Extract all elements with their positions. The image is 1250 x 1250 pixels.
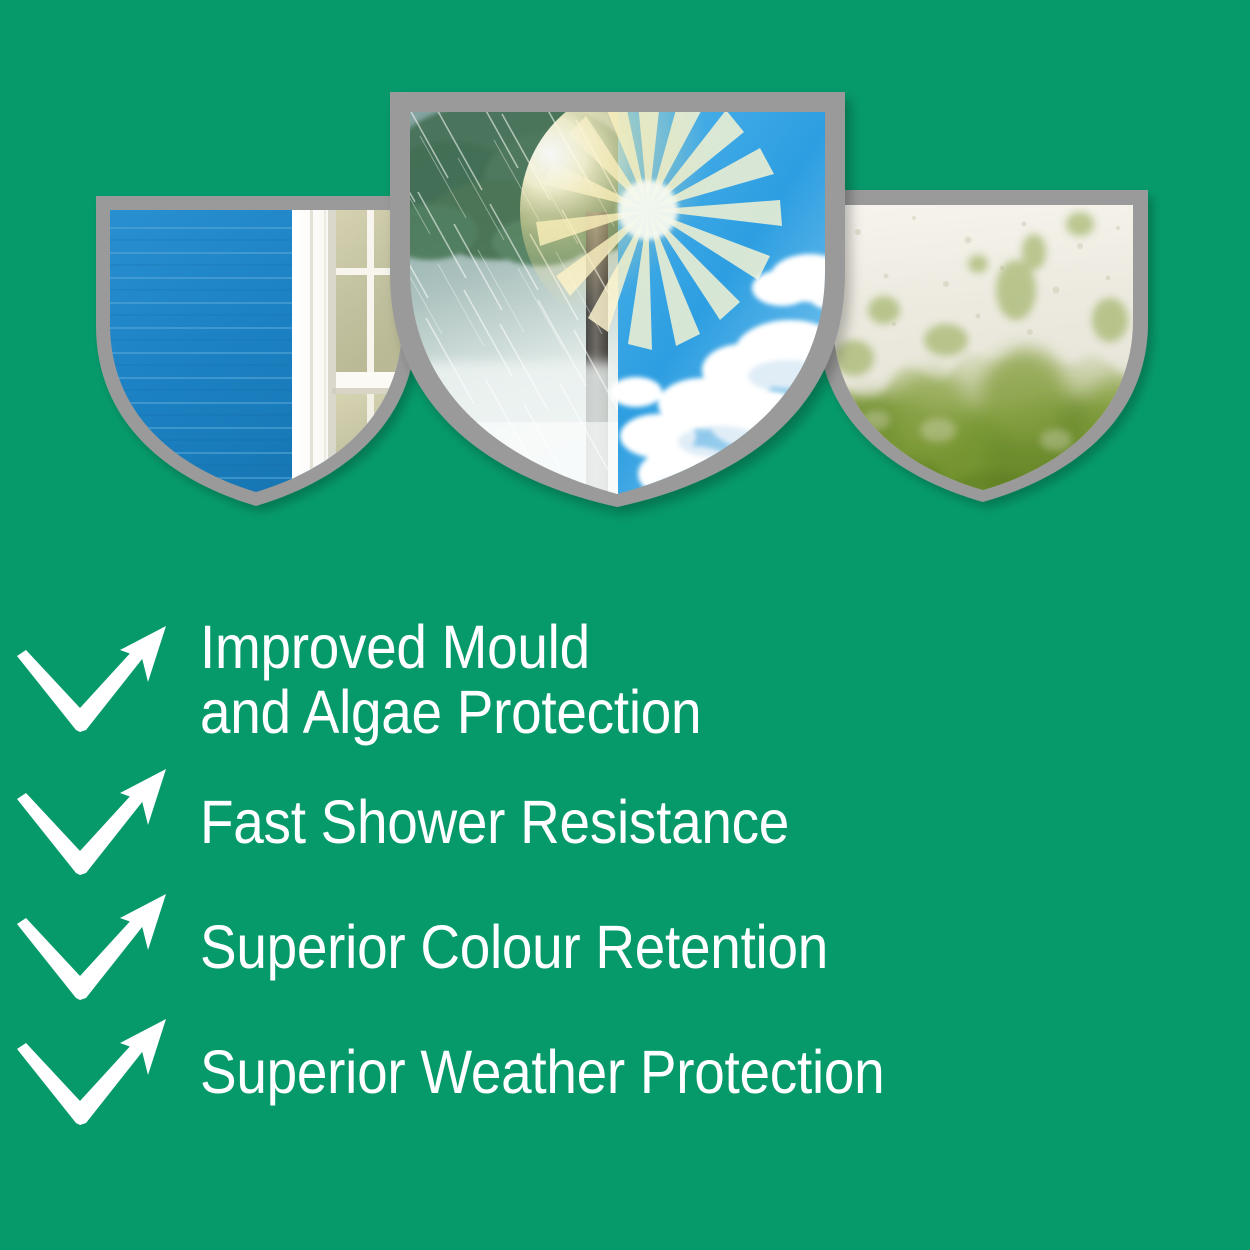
shield-rain-sun [390,92,845,507]
check-arrow-icon [0,1010,200,1135]
check-arrow-icon [0,760,200,885]
shield-image-row [0,0,1250,560]
benefit-item-0: Improved Mould and Algae Protection [0,600,1250,760]
shield-masonry-window [96,196,416,506]
benefit-label: Superior Weather Protection [200,1040,884,1105]
benefit-label: Superior Colour Retention [200,915,828,980]
benefit-item-2: Superior Colour Retention [0,885,1250,1010]
benefit-item-1: Fast Shower Resistance [0,760,1250,885]
benefit-label: Fast Shower Resistance [200,790,789,855]
benefits-list: Improved Mould and Algae Protection Fast… [0,600,1250,1135]
shield-artwork-masonry [96,196,416,506]
check-arrow-icon [0,618,200,743]
benefit-label: Improved Mould and Algae Protection [200,615,701,746]
benefit-item-3: Superior Weather Protection [0,1010,1250,1135]
check-arrow-icon [0,885,200,1010]
shield-mould-algae [818,190,1148,502]
shield-artwork-rain-sun [370,82,868,508]
